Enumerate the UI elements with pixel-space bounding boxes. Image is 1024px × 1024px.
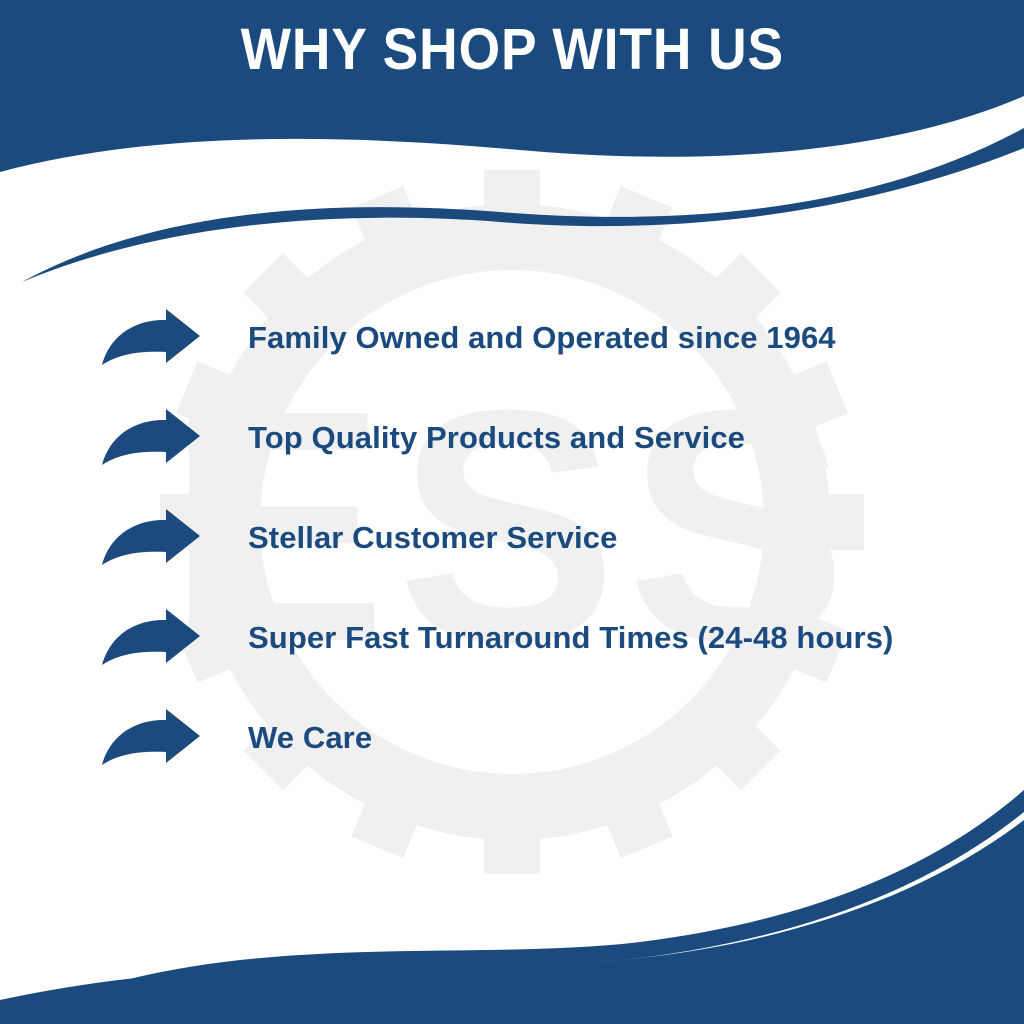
list-item: Stellar Customer Service: [100, 488, 980, 588]
curved-arrow-right-icon: [100, 407, 202, 469]
footer-fill: [0, 820, 1024, 1024]
header-band: WHY SHOP WITH US: [0, 0, 1024, 100]
footer-wave-bottom: [0, 864, 1024, 1024]
curved-arrow-right-icon: [100, 307, 202, 369]
page-title: WHY SHOP WITH US: [240, 21, 783, 79]
benefit-label: Stellar Customer Service: [248, 521, 617, 555]
list-item: Super Fast Turnaround Times (24-48 hours…: [100, 588, 980, 688]
curved-arrow-right-icon: [100, 507, 202, 569]
list-item: We Care: [100, 688, 980, 788]
list-item: Family Owned and Operated since 1964: [100, 288, 980, 388]
curved-arrow-right-icon: [100, 707, 202, 769]
benefit-label: Family Owned and Operated since 1964: [248, 321, 836, 355]
benefit-label: We Care: [248, 721, 372, 755]
curved-arrow-right-icon: [100, 607, 202, 669]
why-shop-with-us-poster: ESS WHY SHOP WITH US Family Owned and Op…: [0, 0, 1024, 1024]
list-item: Top Quality Products and Service: [100, 388, 980, 488]
benefit-label: Super Fast Turnaround Times (24-48 hours…: [248, 621, 893, 655]
benefit-label: Top Quality Products and Service: [248, 421, 745, 455]
header-wave-ribbon: [22, 128, 1024, 282]
benefits-list: Family Owned and Operated since 1964 Top…: [100, 288, 980, 788]
footer-wave-ribbon: [60, 790, 1024, 1000]
